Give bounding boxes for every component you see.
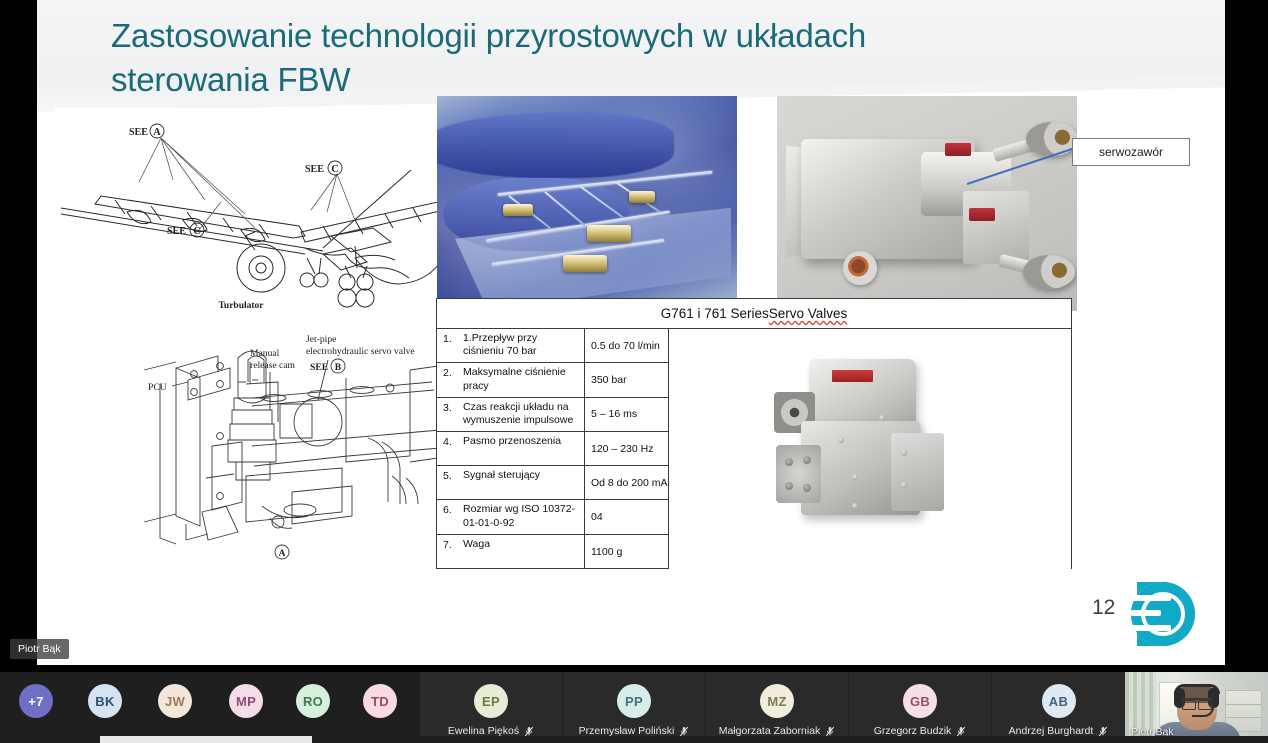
servo-valve-spec-table: G761 i 761 Series Servo Valves 1. 1.Prze…: [436, 298, 1072, 569]
avatar-initials: MP: [236, 694, 256, 709]
participant-roster-bar: +7 BK JW MP RO TD: [0, 672, 1268, 743]
turbulator-caption: Turbulator: [218, 301, 264, 311]
circle-b-label: B: [335, 362, 342, 373]
circle-c-label-1: C: [331, 164, 338, 175]
row-label: Waga: [463, 535, 584, 569]
serwozawor-callout: serwozawór: [1072, 138, 1190, 166]
avatar-initials: GB: [910, 694, 930, 709]
wing-turbulator-drawing: SEE A SEE C SEE C Turbulator: [55, 108, 455, 318]
callout-leader-line: [967, 138, 1077, 186]
jetpipe-label-2: electrohydraulic servo valve: [306, 346, 415, 357]
avatar[interactable]: MP: [229, 684, 263, 718]
row-value: 5 – 16 ms: [584, 398, 668, 431]
avatar[interactable]: MZ: [760, 684, 794, 718]
pcu-servo-valve-drawing: PCU Manual release cam Jet-pipe electroh…: [142, 326, 462, 566]
row-value: 120 – 230 Hz: [584, 432, 668, 465]
table-row: 4. Pasmo przenoszenia 120 – 230 Hz: [437, 432, 668, 466]
avatar-initials: BK: [95, 694, 114, 709]
table-row: 7. Waga 1100 g: [437, 535, 668, 569]
see-c-label-2: SEE: [167, 226, 186, 237]
roster-avatar-cell-bk[interactable]: BK: [72, 672, 138, 743]
table-row: 5. Sygnał sterujący Od 8 do 200 mA: [437, 466, 668, 500]
avatar[interactable]: RO: [296, 684, 330, 718]
slide-number: 12: [1092, 596, 1115, 620]
meeting-screen-share-window: Zastosowanie technologii przyrostowych w…: [0, 0, 1268, 743]
mic-muted-icon: [825, 726, 835, 737]
table-row: 6. Rozmiar wg ISO 10372-01-01-0-92 04: [437, 500, 668, 534]
mic-muted-icon: [524, 726, 534, 737]
row-number: 7.: [437, 535, 463, 569]
see-a-label: SEE: [129, 127, 148, 138]
presenter-name-overlay: Piotr Bąk: [10, 639, 69, 659]
avatar-initials: EP: [482, 694, 500, 709]
participant-tile-mz[interactable]: MZ Małgorzata Zaborniak: [706, 672, 848, 743]
table-row: 1. 1.Przepływ przy ciśnieniu 70 bar 0.5 …: [437, 329, 668, 363]
avatar-initials: +7: [28, 694, 43, 709]
row-value: Od 8 do 200 mA: [584, 466, 668, 499]
row-value: 1100 g: [584, 535, 668, 569]
shared-content-stage[interactable]: Zastosowanie technologii przyrostowych w…: [0, 0, 1268, 672]
row-label: Czas reakcji układu na wymuszenie impuls…: [463, 398, 584, 431]
presentation-slide[interactable]: Zastosowanie technologii przyrostowych w…: [37, 0, 1225, 665]
participant-video-tile[interactable]: Piotr Bąk: [1125, 672, 1268, 743]
spec-header-emphasis: Servo Valves: [769, 306, 848, 321]
row-label: Rozmiar wg ISO 10372-01-01-0-92: [463, 500, 584, 533]
avatar-initials: JW: [165, 694, 185, 709]
avatar[interactable]: TD: [363, 684, 397, 718]
row-label: 1.Przepływ przy ciśnieniu 70 bar: [463, 329, 584, 362]
roster-avatar-cell-jw[interactable]: JW: [138, 672, 212, 743]
row-number: 6.: [437, 500, 463, 533]
manual-release-label-2: release cam: [250, 360, 296, 371]
row-number: 2.: [437, 363, 463, 396]
avatar-initials: PP: [625, 694, 643, 709]
avatar[interactable]: EP: [474, 684, 508, 718]
circle-a-label: A: [153, 127, 161, 138]
mic-muted-icon: [956, 726, 966, 737]
row-value: 350 bar: [584, 363, 668, 396]
avatar-initials: TD: [371, 694, 389, 709]
avatar[interactable]: GB: [903, 684, 937, 718]
circle-c-label-2: C: [193, 226, 200, 237]
participant-tile-gb[interactable]: GB Grzegorz Budzik: [849, 672, 991, 743]
avatar-initials: RO: [303, 694, 323, 709]
spec-table-header: G761 i 761 Series Servo Valves: [437, 299, 1071, 329]
servo-valve-product-photo: [764, 347, 969, 552]
roster-avatar-cell-td[interactable]: TD: [346, 672, 414, 743]
avatar-initials: MZ: [767, 694, 786, 709]
pcu-label: PCU: [148, 382, 167, 393]
spec-header-plain: G761 i 761 Series: [661, 306, 769, 321]
roster-overflow-cell[interactable]: +7: [0, 672, 72, 743]
avatar[interactable]: AB: [1042, 684, 1076, 718]
row-number: 5.: [437, 466, 463, 499]
row-number: 1.: [437, 329, 463, 362]
presenter-name: Piotr Bąk: [18, 643, 61, 655]
row-number: 4.: [437, 432, 463, 465]
manual-release-label-1: Manual: [250, 348, 280, 359]
organization-logo: [1127, 578, 1199, 650]
row-label: Sygnał sterujący: [463, 466, 584, 499]
aircraft-wing-render-photo: [437, 96, 737, 311]
avatar[interactable]: JW: [158, 684, 192, 718]
avatar-overflow-count[interactable]: +7: [19, 684, 53, 718]
participant-tile-pp[interactable]: PP Przemysław Poliński: [563, 672, 705, 743]
participant-tile-ep[interactable]: EP Ewelina Piękoś: [420, 672, 562, 743]
row-label: Maksymalne ciśnienie pracy: [463, 363, 584, 396]
table-row: 2. Maksymalne ciśnienie pracy 350 bar: [437, 363, 668, 397]
roster-avatar-cell-mp[interactable]: MP: [212, 672, 280, 743]
page-title: Zastosowanie technologii przyrostowych w…: [111, 14, 1031, 102]
avatar[interactable]: BK: [88, 684, 122, 718]
table-row: 3. Czas reakcji układu na wymuszenie imp…: [437, 398, 668, 432]
servo-actuator-photo: [777, 96, 1077, 311]
participant-tile-ab[interactable]: AB Andrzej Burghardt: [992, 672, 1125, 743]
row-label: Pasmo przenoszenia: [463, 432, 584, 465]
os-taskbar[interactable]: [0, 736, 1268, 743]
avatar-initials: AB: [1049, 694, 1068, 709]
see-c-label-1: SEE: [305, 164, 324, 175]
roster-avatar-cell-ro[interactable]: RO: [280, 672, 346, 743]
circle-a-bottom-label: A: [279, 548, 286, 559]
mic-muted-icon: [1098, 726, 1108, 737]
mic-muted-icon: [679, 726, 689, 737]
spec-table-body: 1. 1.Przepływ przy ciśnieniu 70 bar 0.5 …: [437, 329, 669, 569]
row-value: 0.5 do 70 l/min: [584, 329, 668, 362]
row-value: 04: [584, 500, 668, 533]
row-number: 3.: [437, 398, 463, 431]
jetpipe-label-1: Jet-pipe: [306, 334, 336, 345]
callout-label: serwozawór: [1099, 145, 1163, 159]
spec-table-image-cell: [669, 329, 1071, 569]
avatar[interactable]: PP: [617, 684, 651, 718]
